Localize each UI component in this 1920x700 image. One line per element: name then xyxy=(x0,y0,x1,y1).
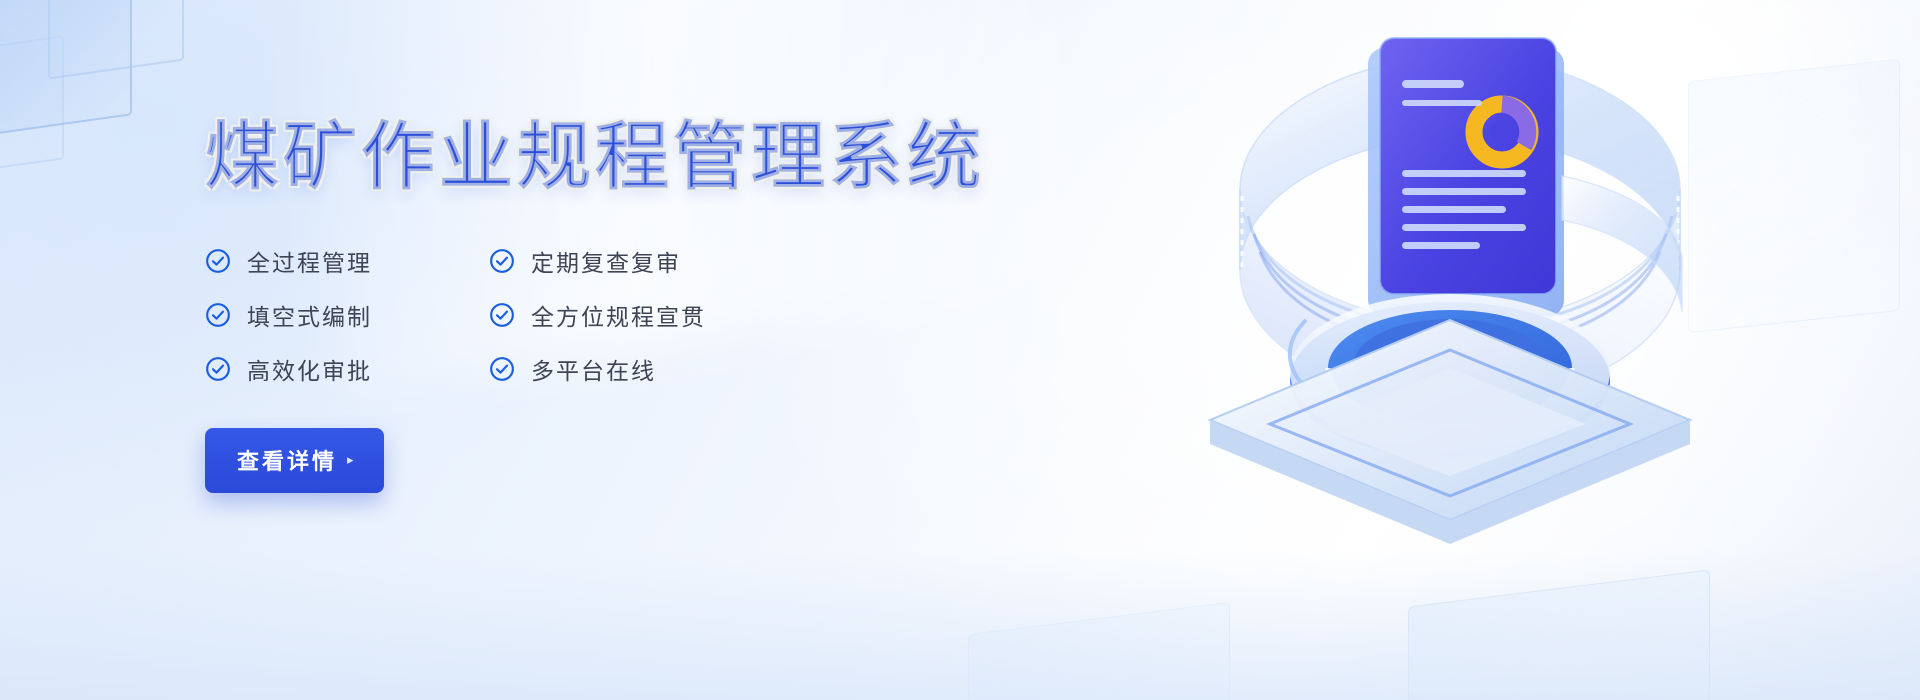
feature-label: 全方位规程宣贯 xyxy=(531,298,706,332)
ghost-panel-bottom-left xyxy=(968,602,1230,700)
feature-item: 填空式编制 xyxy=(205,298,489,332)
ghost-panel-bottom xyxy=(1408,569,1710,700)
check-circle-icon xyxy=(205,356,231,382)
feature-label: 填空式编制 xyxy=(247,298,372,332)
check-circle-icon xyxy=(489,356,515,382)
feature-item: 多平台在线 xyxy=(489,352,985,386)
view-details-button[interactable]: 查看详情 ▸ xyxy=(205,428,384,493)
feature-label: 高效化审批 xyxy=(247,352,372,386)
view-details-label: 查看详情 xyxy=(237,444,337,476)
feature-item: 全方位规程宣贯 xyxy=(489,298,985,332)
check-circle-icon xyxy=(489,248,515,274)
decorative-cube-top xyxy=(48,0,184,80)
check-circle-icon xyxy=(205,302,231,328)
check-circle-icon xyxy=(489,302,515,328)
feature-label: 全过程管理 xyxy=(247,244,372,278)
hero-banner: 煤矿作业规程管理系统 全过程管理 定期复查复审 xyxy=(0,0,1920,700)
3d-document-platform-illustration xyxy=(1130,20,1770,580)
feature-item: 定期复查复审 xyxy=(489,244,985,278)
decorative-cube-front xyxy=(0,0,132,137)
chevron-right-icon: ▸ xyxy=(347,453,354,466)
banner-content: 煤矿作业规程管理系统 全过程管理 定期复查复审 xyxy=(205,118,985,493)
page-title: 煤矿作业规程管理系统 xyxy=(205,118,985,198)
feature-label: 多平台在线 xyxy=(531,352,656,386)
check-circle-icon xyxy=(205,248,231,274)
feature-label: 定期复查复审 xyxy=(531,244,681,278)
document-card xyxy=(1368,38,1564,316)
feature-item: 高效化审批 xyxy=(205,352,489,386)
feature-item: 全过程管理 xyxy=(205,244,489,278)
feature-list: 全过程管理 定期复查复审 填空式编制 xyxy=(205,244,985,386)
donut-chart xyxy=(1474,104,1530,160)
decorative-cube-back xyxy=(0,35,64,176)
